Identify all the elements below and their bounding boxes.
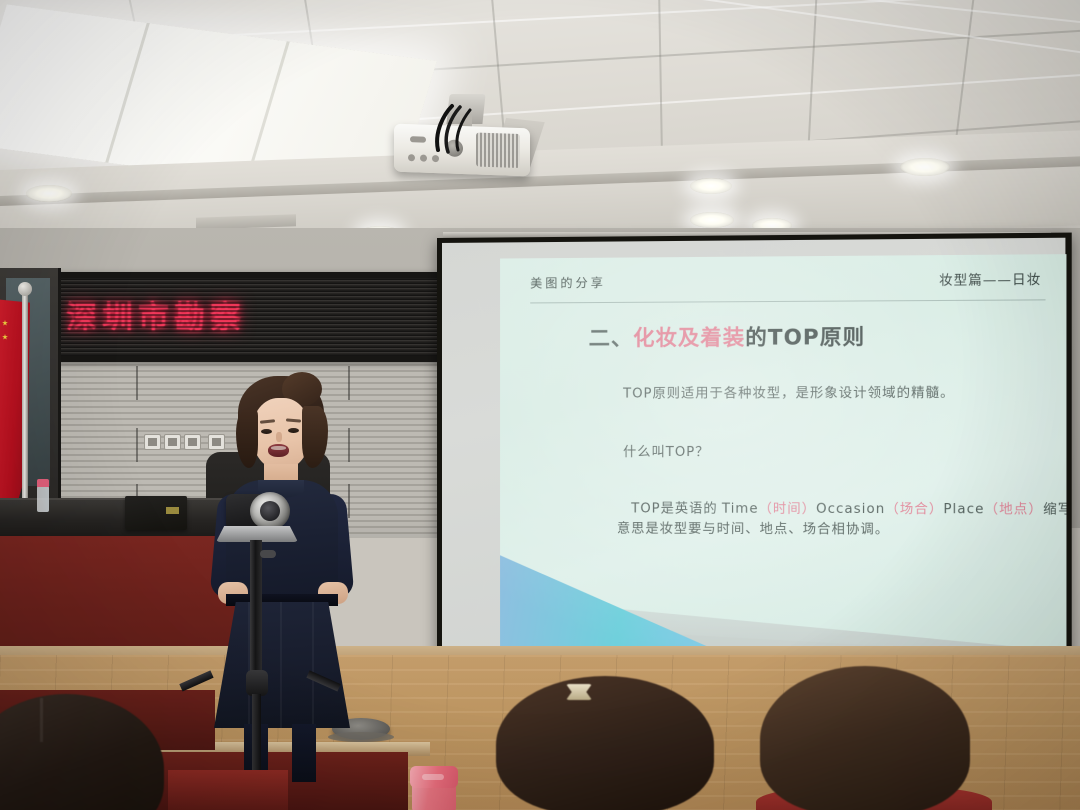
hair-clip [566,684,592,700]
slide-title-prefix: 二、 [589,326,634,350]
presenter-hair-right [302,406,328,468]
projection-screen: 美图的分享 妆型篇——日妆 二、化妆及着装的TOP原则 TOP原则适用于各种妆型… [437,233,1072,674]
wall-switch-1[interactable] [144,434,161,450]
slide-title-suffix: 的TOP原则 [745,325,865,350]
definition-gloss-time: （时间） [759,502,817,517]
slide-body-line-2: 什么叫TOP？ [623,441,709,460]
camera-tripod [212,494,308,794]
slide-header: 美图的分享 妆型篇——日妆 [530,269,1043,299]
led-scrolling-sign: 深圳市勘察 [52,272,444,362]
led-scanline-overlay [58,278,438,356]
bottle-flip-tab [422,774,444,780]
downlight-3 [900,158,950,176]
flag-pole-finial [18,282,32,296]
definition-tail: 缩写。 [1043,502,1066,517]
desk-bottle-cap [37,479,49,487]
definition-gloss-place: （地点） [985,502,1044,517]
presenter-nose [276,432,282,442]
presenter-mouth [268,444,289,457]
ceiling-projector [386,96,556,186]
presentation-room-photo: 深圳市勘察 美图的分享 妆型篇——日妆 [0,0,1080,810]
tripod-lock-knob [260,550,276,558]
slide-header-left: 美图的分享 [530,274,606,292]
wall-switch-2[interactable] [164,434,181,450]
camera-lens [250,492,290,530]
hair-part-line [40,698,43,742]
laptop [125,496,187,530]
slide-title: 二、化妆及着装的TOP原则 [589,321,865,353]
definition-lead: TOP是英语的 [631,501,718,516]
foreground-bottle-cap [410,766,458,788]
definition-term-occasion: Occasion [816,502,885,517]
foreground-seat-back [168,770,288,810]
definition-gloss-occasion: （场合） [885,502,943,517]
tripod-center-column [250,540,262,690]
presentation-slide: 美图的分享 妆型篇——日妆 二、化妆及着装的TOP原则 TOP原则适用于各种妆型… [500,254,1066,656]
laptop-logo [166,507,179,514]
slide-header-right: 妆型篇——日妆 [939,269,1041,289]
flag-pole [22,288,28,523]
screen-surface: 美图的分享 妆型篇——日妆 二、化妆及着装的TOP原则 TOP原则适用于各种妆型… [442,238,1065,666]
slide-title-highlight: 化妆及着装 [633,325,745,350]
definition-term-place: Place [943,502,984,517]
definition-term-time: Time [722,502,759,517]
slide-body-line-1: TOP原则适用于各种妆型，是形象设计领域的精髓。 [623,382,955,402]
projector-cable [430,102,490,154]
presenter-hair-left [236,410,258,468]
tripod-leg-hub [246,670,268,696]
downlight-4 [690,212,734,228]
audience-head-right [760,666,970,810]
slide-definition-line: TOP是英语的 Time（时间）Occasion（场合）Place（地点）缩写。 [631,497,1066,517]
slide-header-divider [530,299,1045,303]
desk-water-bottle [37,486,49,512]
audience-head-center [496,676,714,810]
downlight-1 [26,185,72,202]
downlight-2 [690,178,732,194]
slide-closing-line: 意思是妆型要与时间、地点、场合相协调。 [617,517,889,537]
